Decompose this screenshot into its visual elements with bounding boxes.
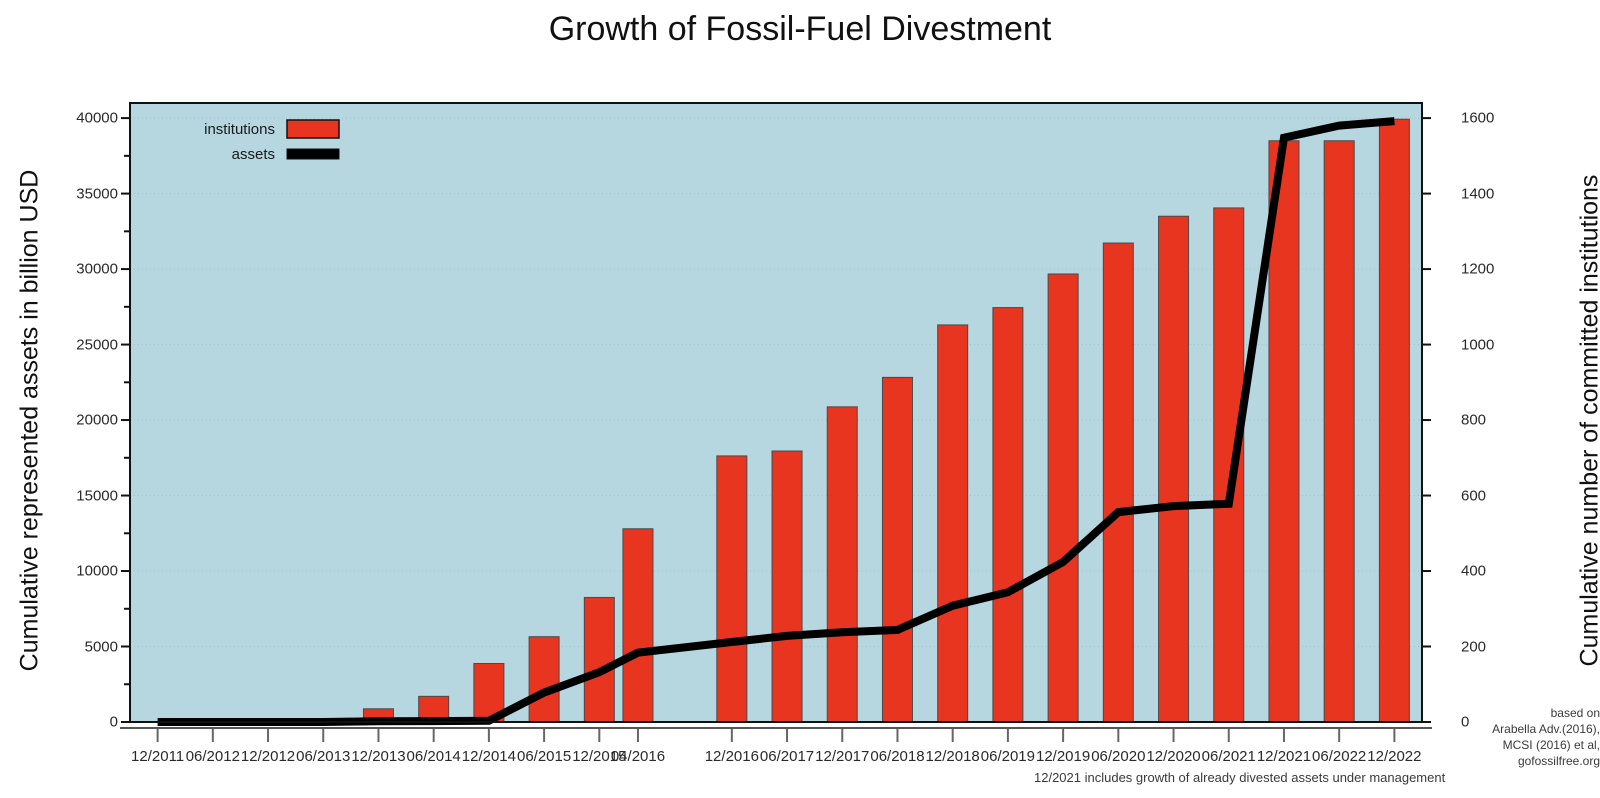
bar[interactable] <box>1324 141 1354 722</box>
bar[interactable] <box>717 456 747 722</box>
legend-label-institutions: institutions <box>204 121 275 138</box>
bar[interactable] <box>584 597 614 722</box>
bar[interactable] <box>993 308 1023 722</box>
credit-line: Arabella Adv.(2016), <box>1492 722 1600 736</box>
bar[interactable] <box>1214 208 1244 722</box>
bar[interactable] <box>882 377 912 722</box>
chart-container: Growth of Fossil-Fuel Divestment Cumulat… <box>0 0 1600 798</box>
bar[interactable] <box>1159 216 1189 722</box>
bar[interactable] <box>938 325 968 722</box>
credit-line: based on <box>1551 706 1600 720</box>
bar[interactable] <box>827 407 857 722</box>
bar[interactable] <box>1379 119 1409 722</box>
bar[interactable] <box>772 451 802 722</box>
bar[interactable] <box>1103 243 1133 722</box>
credit-line: MCSI (2016) et al, <box>1503 738 1600 752</box>
credit-line: gofossilfree.org <box>1518 754 1600 768</box>
legend-swatch-institutions[interactable] <box>287 120 339 138</box>
bar[interactable] <box>623 529 653 722</box>
bar[interactable] <box>529 637 559 722</box>
legend-label-assets: assets <box>232 146 275 163</box>
bar[interactable] <box>1048 274 1078 722</box>
footnote-text: 12/2021 includes growth of already dives… <box>1034 770 1445 785</box>
plot-area: institutionsassets <box>0 0 1600 798</box>
legend-swatch-assets[interactable] <box>287 149 339 159</box>
